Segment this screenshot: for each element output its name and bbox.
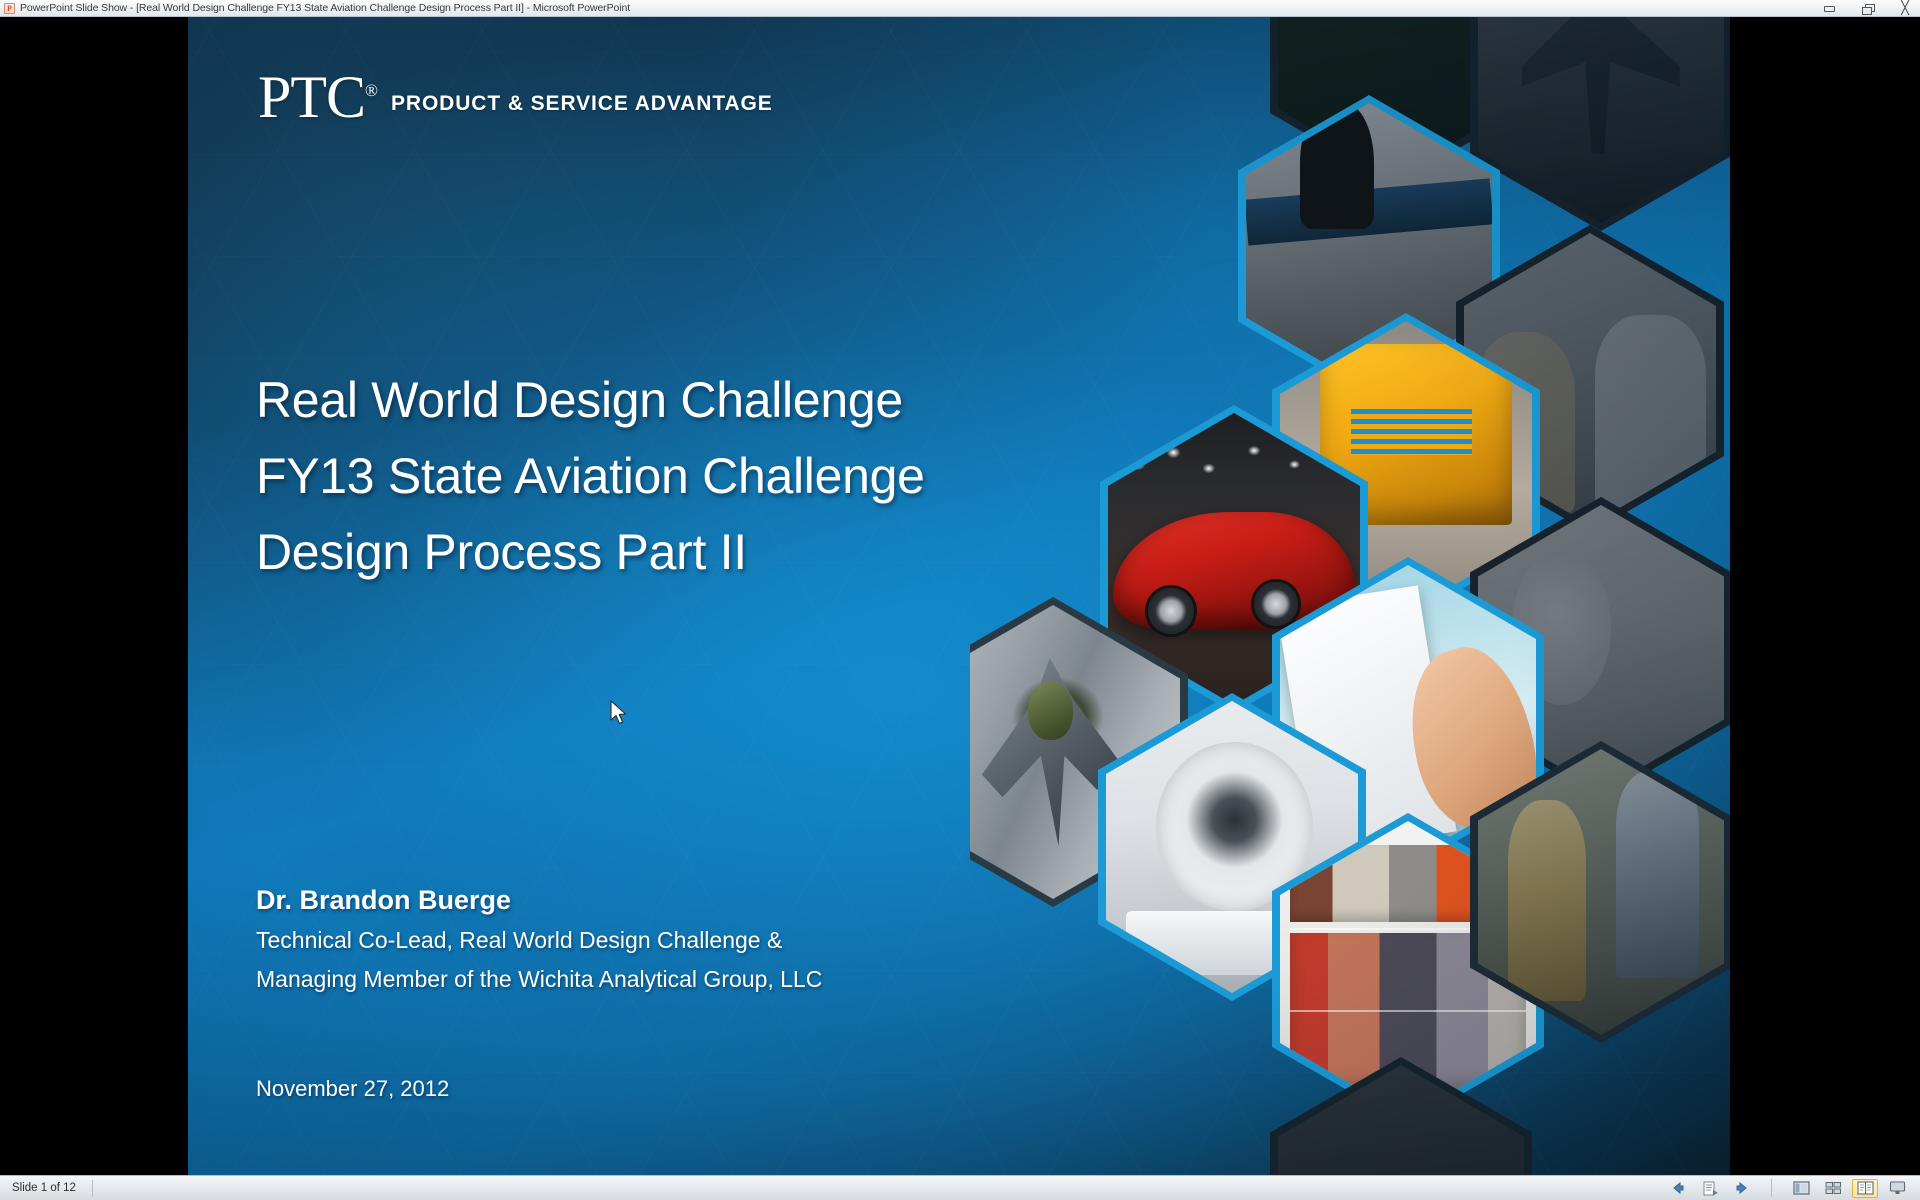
- author-role-line-2: Managing Member of the Wichita Analytica…: [256, 960, 1136, 999]
- previous-slide-arrow-icon[interactable]: [1665, 1179, 1691, 1198]
- hex-fighter-jet-dark: [1470, 17, 1730, 231]
- slide-title: Real World Design Challenge FY13 State A…: [256, 362, 1156, 590]
- close-button[interactable]: ╳: [1894, 2, 1916, 16]
- window-controls: ╳: [1818, 0, 1916, 17]
- minimize-button[interactable]: [1818, 2, 1840, 16]
- slide-canvas[interactable]: PTC® PRODUCT & SERVICE ADVANTAGE Real Wo…: [188, 17, 1730, 1175]
- status-bar: Slide 1 of 12: [0, 1175, 1920, 1200]
- author-role-line-1: Technical Co-Lead, Real World Design Cha…: [256, 921, 1136, 960]
- slide-show-stage[interactable]: PTC® PRODUCT & SERVICE ADVANTAGE Real Wo…: [0, 17, 1920, 1175]
- slide-show-icon[interactable]: [1884, 1179, 1910, 1198]
- title-line-2: FY13 State Aviation Challenge: [256, 438, 1156, 514]
- shelf-line-2: [1290, 1010, 1526, 1012]
- hexagon-photo-collage: [970, 17, 1730, 1175]
- title-line-1: Real World Design Challenge: [256, 362, 1156, 438]
- title-line-3: Design Process Part II: [256, 514, 1156, 590]
- slide-menu-icon[interactable]: [1697, 1179, 1723, 1198]
- close-icon: ╳: [1901, 4, 1909, 14]
- window-titlebar: P PowerPoint Slide Show - [Real World De…: [0, 0, 1920, 17]
- restore-icon: [1862, 4, 1873, 14]
- reading-view-icon[interactable]: [1852, 1179, 1878, 1198]
- slide-counter: Slide 1 of 12: [0, 1182, 90, 1194]
- author-block: Dr. Brandon Buerge Technical Co-Lead, Re…: [256, 879, 1136, 999]
- slide-sorter-icon[interactable]: [1820, 1179, 1846, 1198]
- ptc-tagline: PRODUCT & SERVICE ADVANTAGE: [391, 92, 773, 116]
- powerpoint-window: P PowerPoint Slide Show - [Real World De…: [0, 0, 1920, 1200]
- mouse-cursor: [609, 700, 629, 728]
- author-name: Dr. Brandon Buerge: [256, 879, 1136, 921]
- normal-view-icon[interactable]: [1788, 1179, 1814, 1198]
- status-separator: [92, 1180, 93, 1197]
- slide-navigation-group: [1665, 1179, 1755, 1198]
- status-right-group: [1665, 1179, 1910, 1198]
- ptc-logo: PTC® PRODUCT & SERVICE ADVANTAGE: [258, 70, 773, 125]
- restore-button[interactable]: [1856, 2, 1878, 16]
- minimize-icon: [1824, 6, 1835, 12]
- ptc-wordmark: PTC®: [258, 70, 378, 125]
- presentation-date: November 27, 2012: [256, 1076, 449, 1102]
- next-slide-arrow-icon[interactable]: [1729, 1179, 1755, 1198]
- status-divider: [1771, 1179, 1772, 1197]
- window-title: PowerPoint Slide Show - [Real World Desi…: [20, 2, 630, 14]
- registered-trademark-icon: ®: [365, 81, 378, 100]
- ptc-letters: PTC: [258, 64, 365, 130]
- powerpoint-icon: P: [4, 3, 15, 14]
- status-left-group: Slide 1 of 12: [0, 1176, 95, 1200]
- view-mode-group: [1788, 1179, 1910, 1198]
